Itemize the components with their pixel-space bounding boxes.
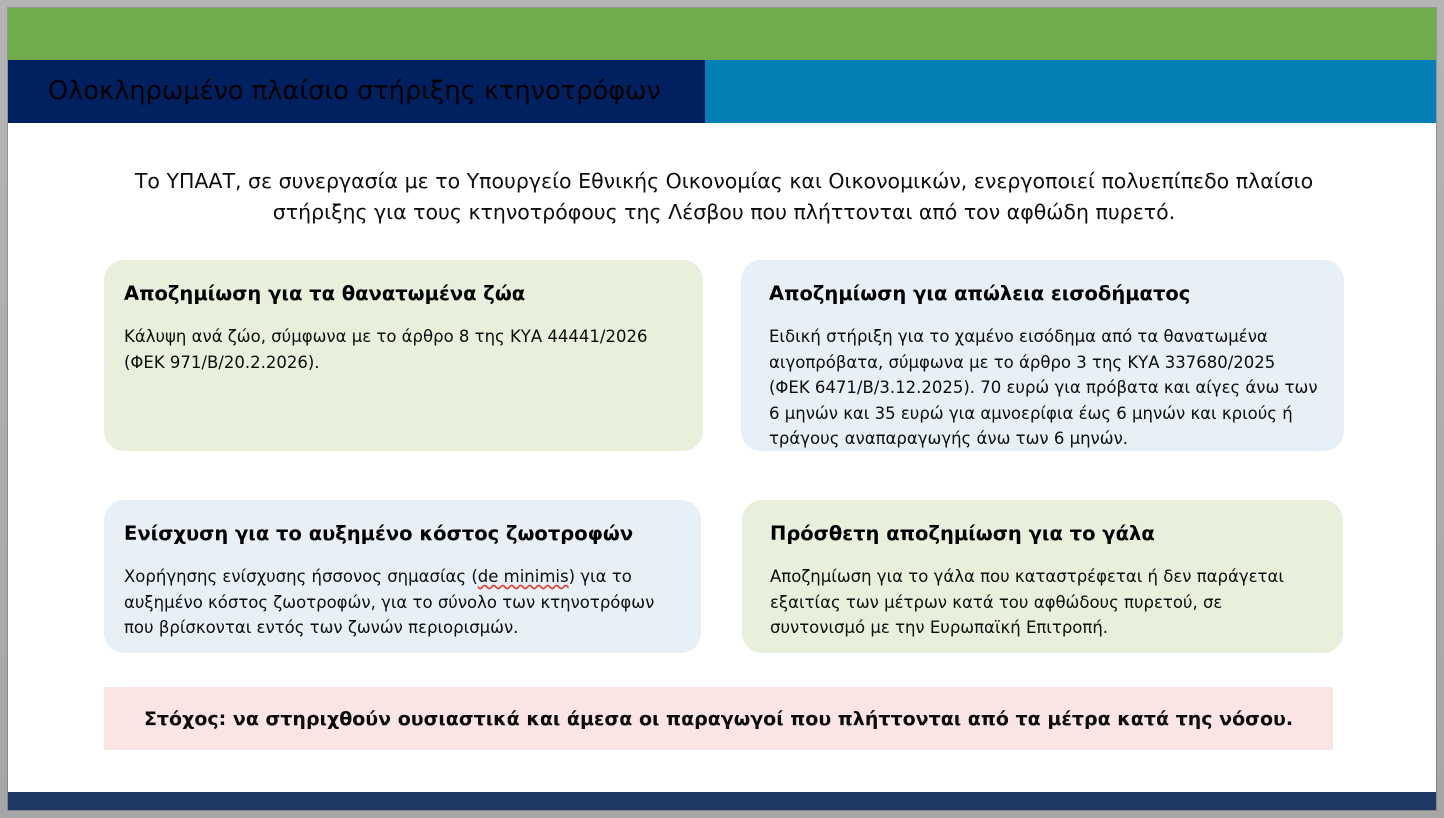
- card-body: Χορήγησης ενίσχυσης ήσσονος σημασίας (de…: [124, 564, 675, 641]
- slide-title: Ολοκληρωμένο πλαίσιο στήριξης κτηνοτρόφω…: [48, 60, 698, 123]
- intro-paragraph: Το ΥΠΑΑΤ, σε συνεργασία με το Υπουργείο …: [104, 166, 1344, 228]
- card-feed-cost-support: Ενίσχυση για το αυξημένο κόστος ζωοτροφώ…: [104, 500, 701, 653]
- header-green-band: [8, 8, 1436, 60]
- slide-canvas: Ολοκληρωμένο πλαίσιο στήριξης κτηνοτρόφω…: [8, 8, 1436, 810]
- card-body: Κάλυψη ανά ζώο, σύμφωνα με το άρθρο 8 τη…: [124, 324, 677, 375]
- card-compensation-dead-animals: Αποζημίωση για τα θανατωμένα ζώα Κάλυψη …: [104, 260, 703, 451]
- card-title: Αποζημίωση για τα θανατωμένα ζώα: [124, 282, 677, 306]
- card-body: Ειδική στήριξη για το χαμένο εισόδημα απ…: [769, 324, 1318, 452]
- goal-banner: Στόχος: να στηριχθούν ουσιαστικά και άμε…: [104, 687, 1333, 750]
- window-frame: Ολοκληρωμένο πλαίσιο στήριξης κτηνοτρόφω…: [0, 0, 1444, 818]
- card-compensation-income-loss: Αποζημίωση για απώλεια εισοδήματος Ειδικ…: [741, 260, 1344, 451]
- card-body-before: Χορήγησης ενίσχυσης ήσσονος σημασίας (: [124, 567, 478, 586]
- spellcheck-term: de minimis: [478, 567, 569, 586]
- footer-navy-bar: [8, 792, 1436, 810]
- card-title: Ενίσχυση για το αυξημένο κόστος ζωοτροφώ…: [124, 522, 675, 546]
- card-body: Αποζημίωση για το γάλα που καταστρέφεται…: [770, 564, 1317, 641]
- card-milk-compensation: Πρόσθετη αποζημίωση για το γάλα Αποζημίω…: [742, 500, 1343, 653]
- card-title: Πρόσθετη αποζημίωση για το γάλα: [770, 522, 1317, 546]
- card-title: Αποζημίωση για απώλεια εισοδήματος: [769, 282, 1318, 306]
- goal-banner-text: Στόχος: να στηριχθούν ουσιαστικά και άμε…: [144, 708, 1293, 730]
